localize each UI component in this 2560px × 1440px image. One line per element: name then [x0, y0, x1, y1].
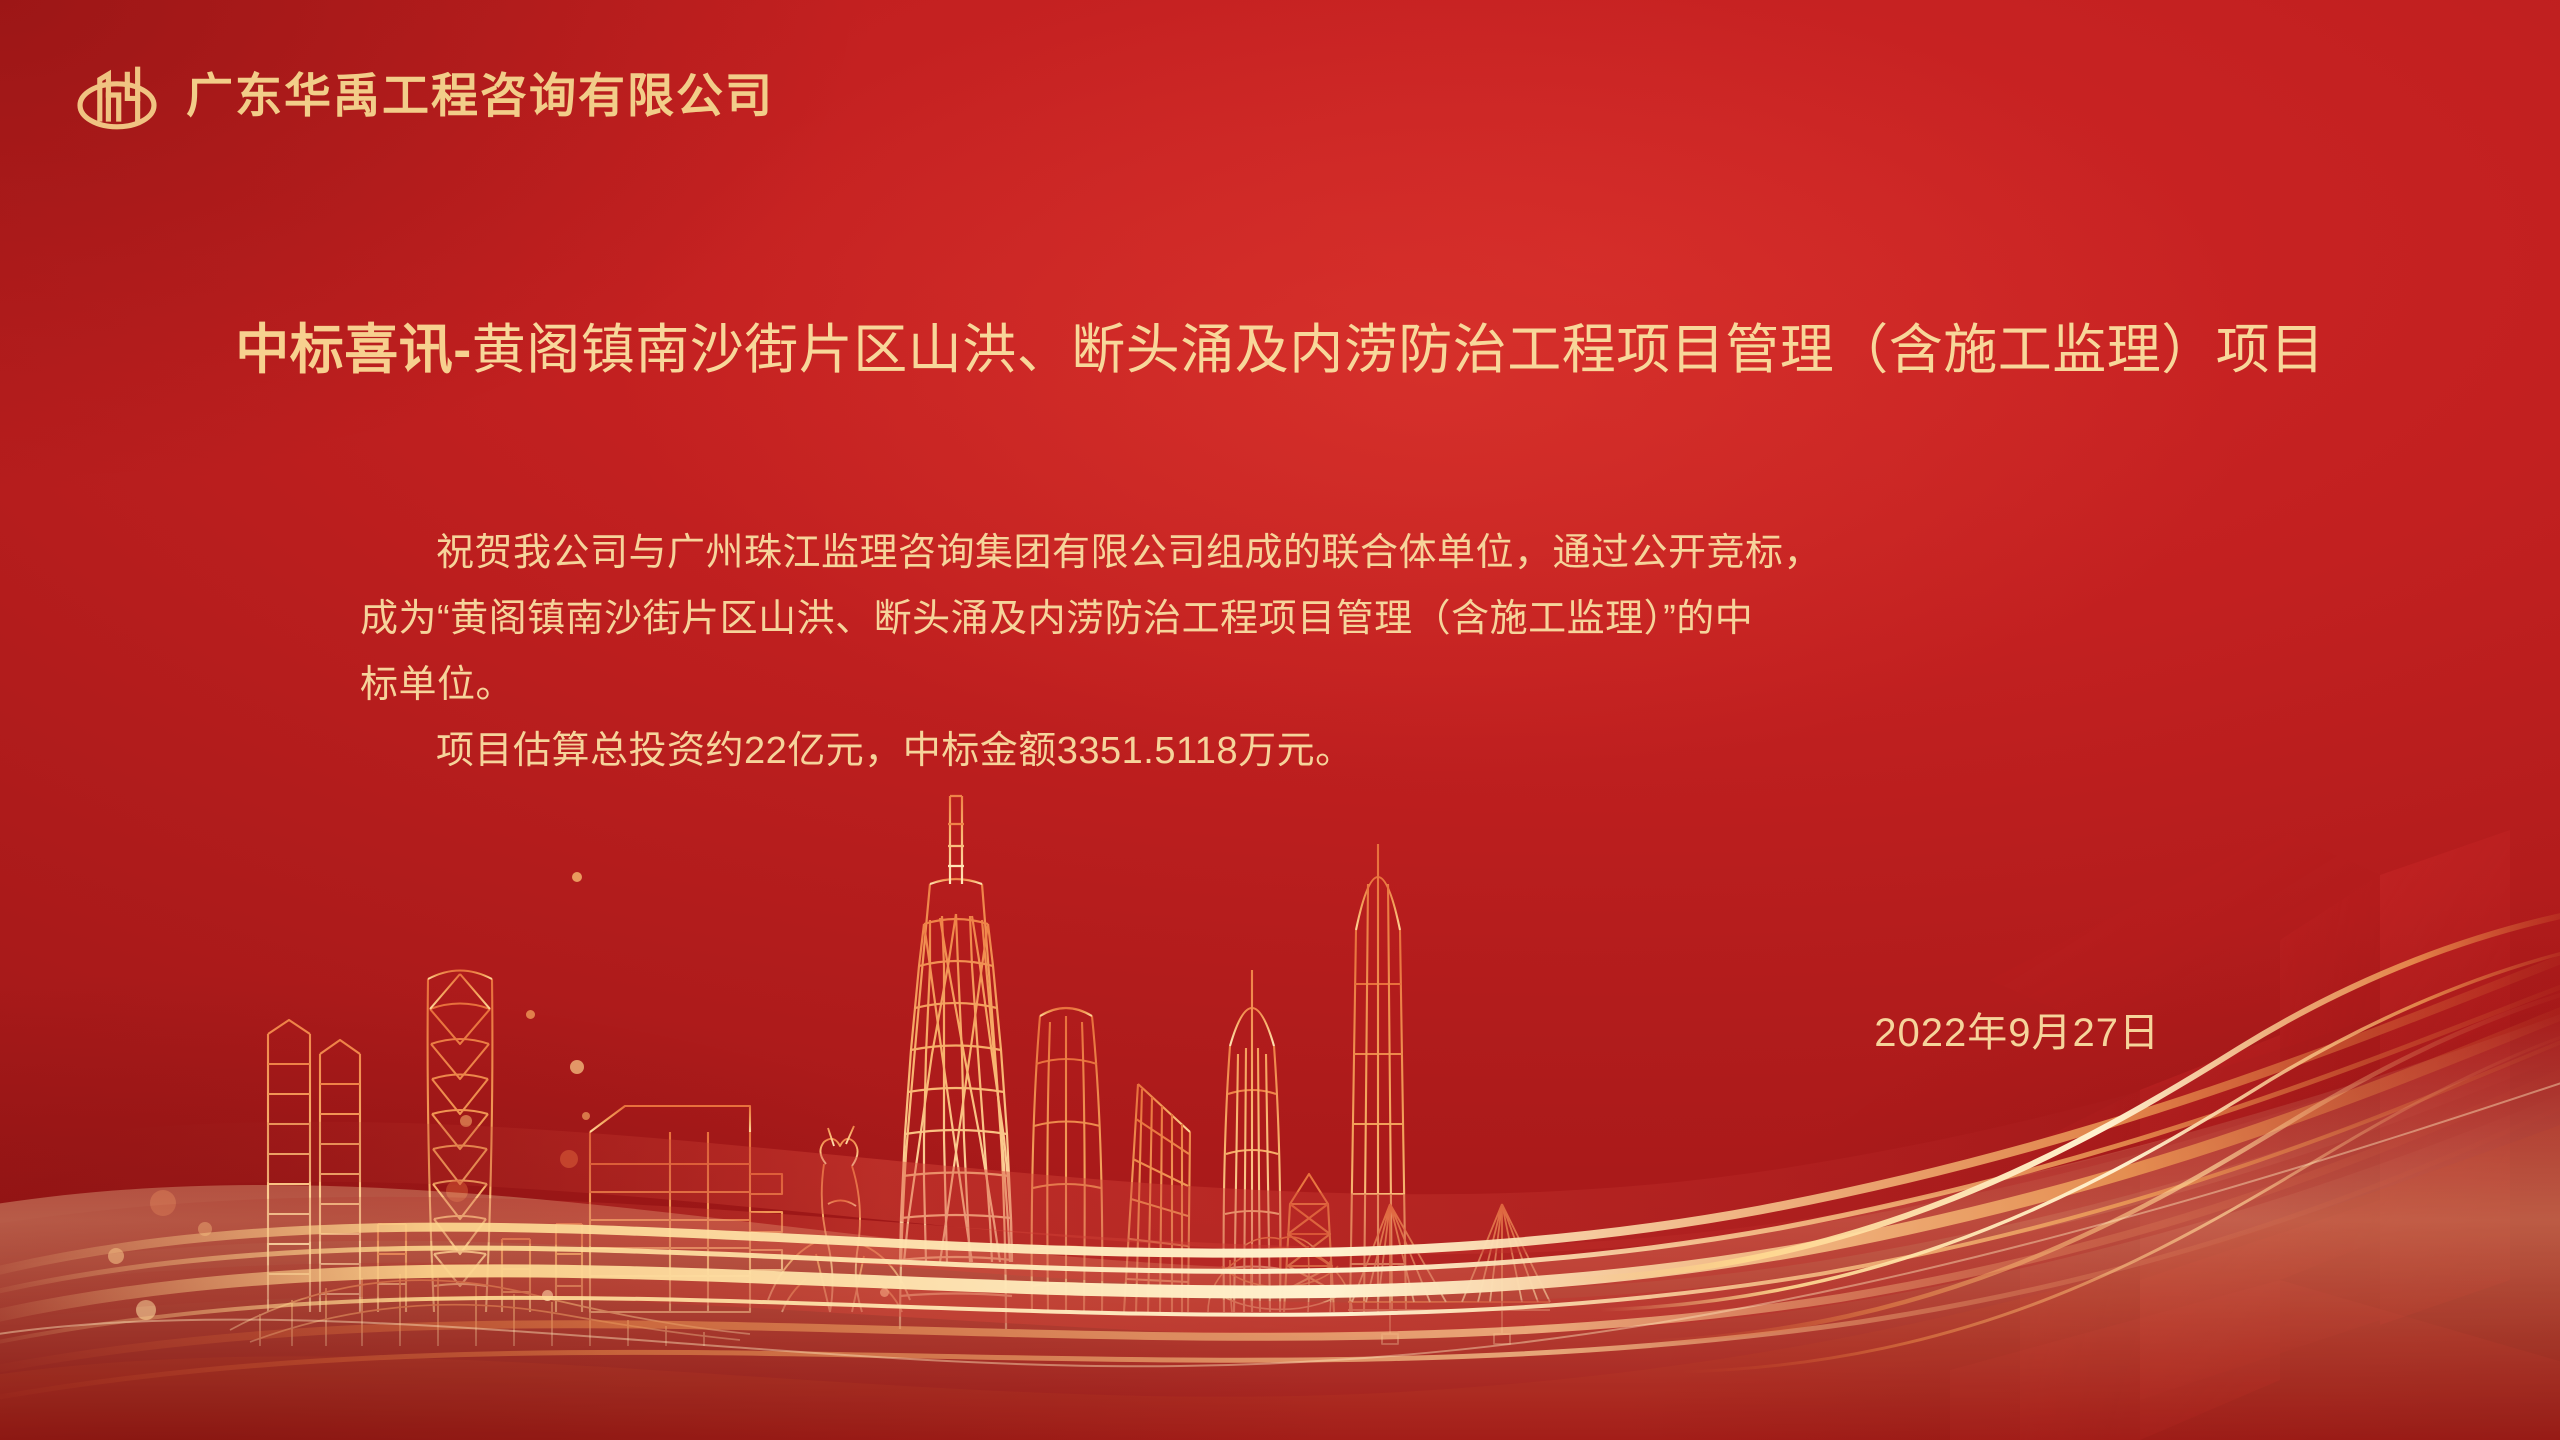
page-title-lead: 中标喜讯	[235, 320, 453, 380]
poster-canvas: 广东华禹工程咨询有限公司 中标喜讯-黄阁镇南沙街片区山洪、断头涌及内涝防治工程项…	[0, 0, 2560, 1440]
hy-monogram-ellipse-logo-icon	[74, 52, 160, 138]
publish-date: 2022年9月27日	[1874, 1000, 2160, 1058]
company-name: 广东华禹工程咨询有限公司	[186, 72, 774, 119]
building-watermark-icon	[1950, 680, 2560, 1440]
page-title-rest: 黄阁镇南沙街片区山洪、断头涌及内涝防治工程项目管理（含施工监理）项目	[472, 320, 2325, 380]
body-line-3: 标单位。	[360, 652, 2180, 718]
body-line-1: 祝贺我公司与广州珠江监理咨询集团有限公司组成的联合体单位，通过公开竞标，	[360, 520, 2180, 586]
body-line-2: 成为“黄阁镇南沙街片区山洪、断头涌及内涝防治工程项目管理（含施工监理）”的中	[360, 586, 2180, 652]
page-title: 中标喜讯-黄阁镇南沙街片区山洪、断头涌及内涝防治工程项目管理（含施工监理）项目	[0, 318, 2560, 384]
page-title-separator: -	[453, 320, 471, 380]
brand-header: 广东华禹工程咨询有限公司	[74, 52, 774, 138]
announcement-body: 祝贺我公司与广州珠江监理咨询集团有限公司组成的联合体单位，通过公开竞标， 成为“…	[360, 520, 2180, 784]
body-line-4: 项目估算总投资约22亿元，中标金额3351.5118万元。	[360, 718, 2180, 784]
